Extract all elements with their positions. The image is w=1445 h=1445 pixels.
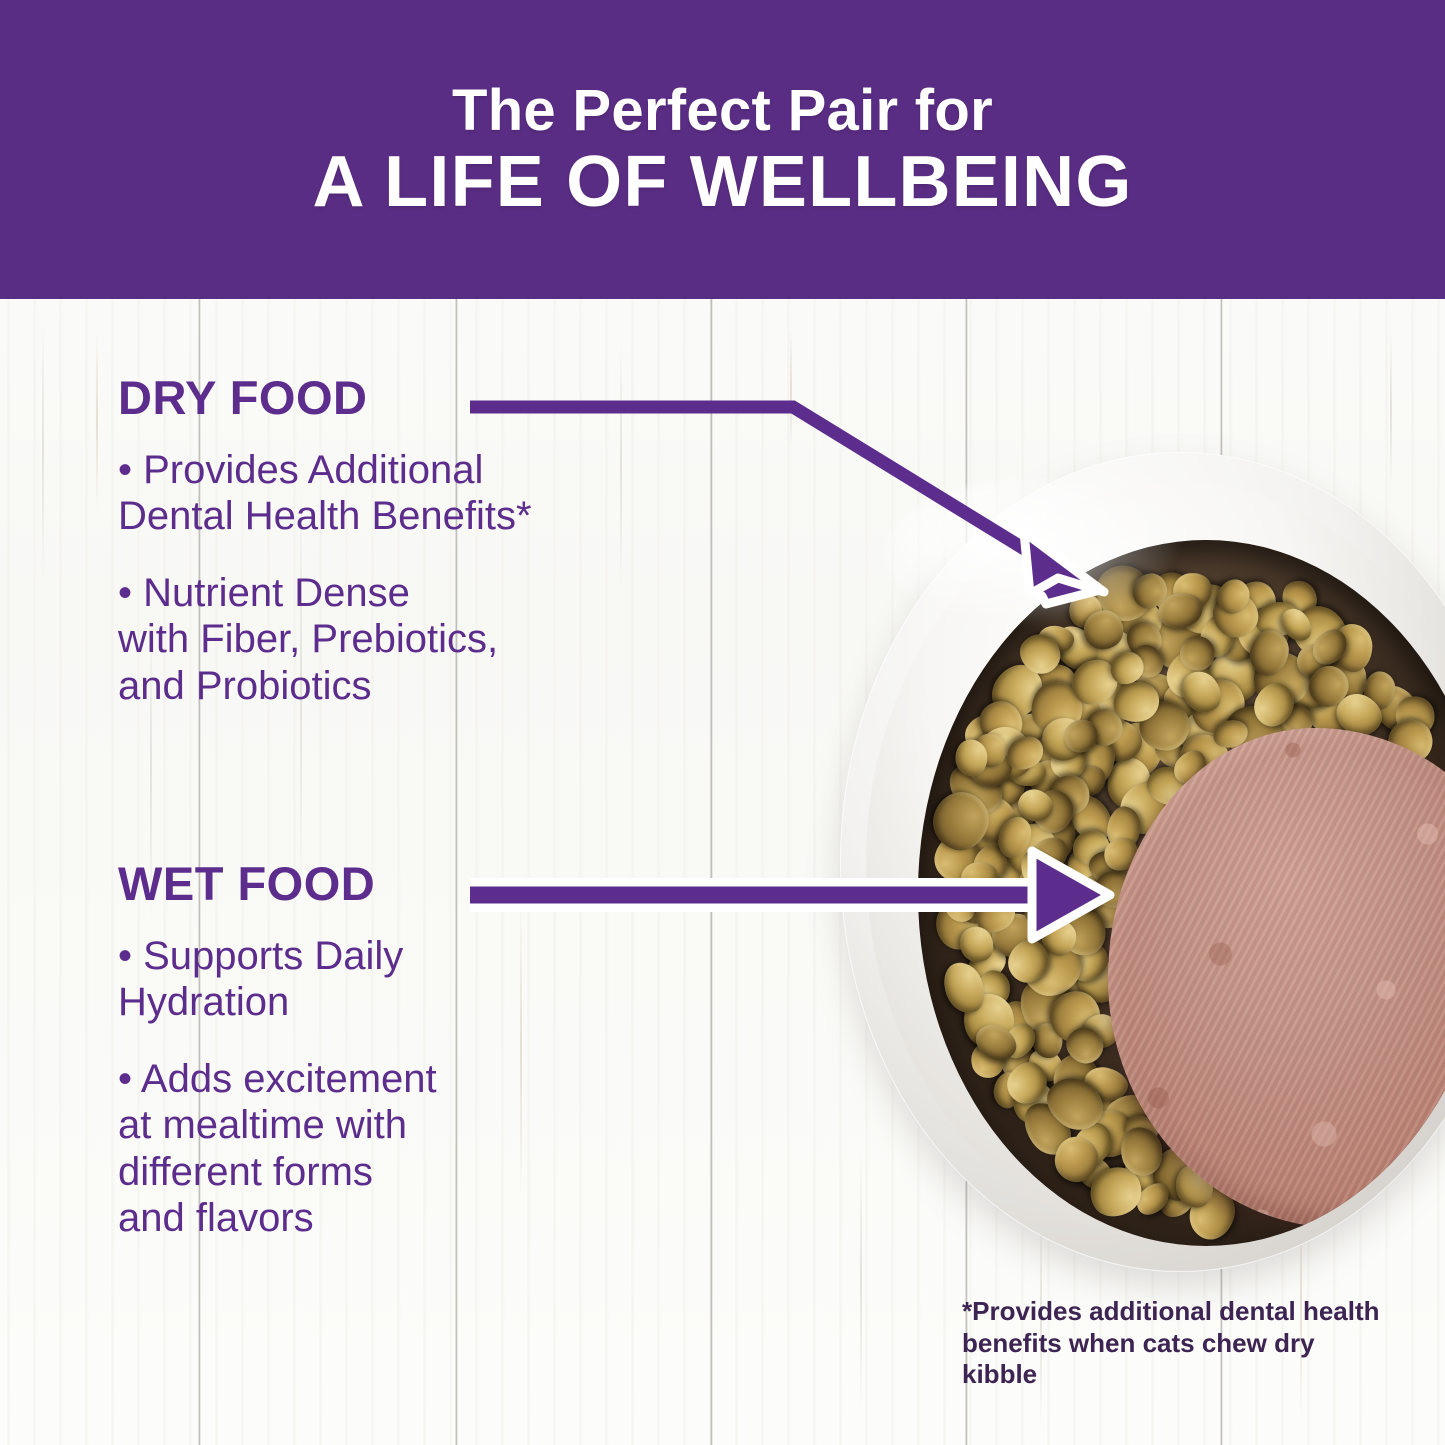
dry-food-bullet-1: • Provides Additional Dental Health Bene… (118, 447, 798, 540)
dry-food-bullet-1-line-1: • Provides Additional (118, 448, 483, 492)
wet-food-bullet-2-line-1: • Adds excitement (118, 1057, 437, 1101)
wet-food-bullet-2-line-4: and flavors (118, 1196, 314, 1240)
dry-food-block: DRY FOOD • Provides Additional Dental He… (118, 374, 798, 739)
wet-food-bullet-1: • Supports Daily Hydration (118, 933, 798, 1026)
dry-food-bullet-2-line-3: and Probiotics (118, 664, 371, 708)
footnote-line-1: *Provides additional dental health (962, 1296, 1380, 1326)
wood-grain (42, 320, 44, 580)
cat-food-bowl-photo (880, 452, 1445, 1252)
wet-food-bullet-1-line-1: • Supports Daily (118, 934, 403, 978)
wet-pate (1108, 728, 1445, 1228)
dry-food-bullet-2-line-1: • Nutrient Dense (118, 571, 410, 615)
wet-food-block: WET FOOD • Supports Daily Hydration • Ad… (118, 860, 798, 1271)
pate-texture (1108, 728, 1445, 1228)
bowl-interior (918, 540, 1445, 1246)
wet-food-bullet-2-line-3: different forms (118, 1150, 373, 1194)
dry-food-bullet-1-line-2: Dental Health Benefits* (118, 494, 532, 538)
bowl-outer-rim (840, 452, 1445, 1272)
header-banner: The Perfect Pair for A LIFE OF WELLBEING (0, 0, 1445, 299)
header-title: A LIFE OF WELLBEING (312, 146, 1132, 218)
wet-food-bullet-1-line-2: Hydration (118, 980, 289, 1024)
product-infographic: The Perfect Pair for A LIFE OF WELLBEING (0, 0, 1445, 1445)
wood-grain (96, 330, 98, 510)
header-subtitle: The Perfect Pair for (452, 81, 993, 140)
wet-food-title: WET FOOD (118, 860, 798, 907)
dry-food-bullet-2: • Nutrient Dense with Fiber, Prebiotics,… (118, 570, 798, 709)
bowl-highlight (884, 478, 1184, 628)
wet-food-bullet-2-line-2: at mealtime with (118, 1103, 407, 1147)
wet-food-bullet-2: • Adds excitement at mealtime with diffe… (118, 1056, 798, 1242)
footnote: *Provides additional dental health benef… (962, 1296, 1382, 1391)
wood-grain (860, 1150, 862, 1410)
footnote-line-2: benefits when cats chew dry kibble (962, 1328, 1315, 1390)
dry-food-bullet-2-line-2: with Fiber, Prebiotics, (118, 617, 498, 661)
dry-food-title: DRY FOOD (118, 374, 798, 421)
